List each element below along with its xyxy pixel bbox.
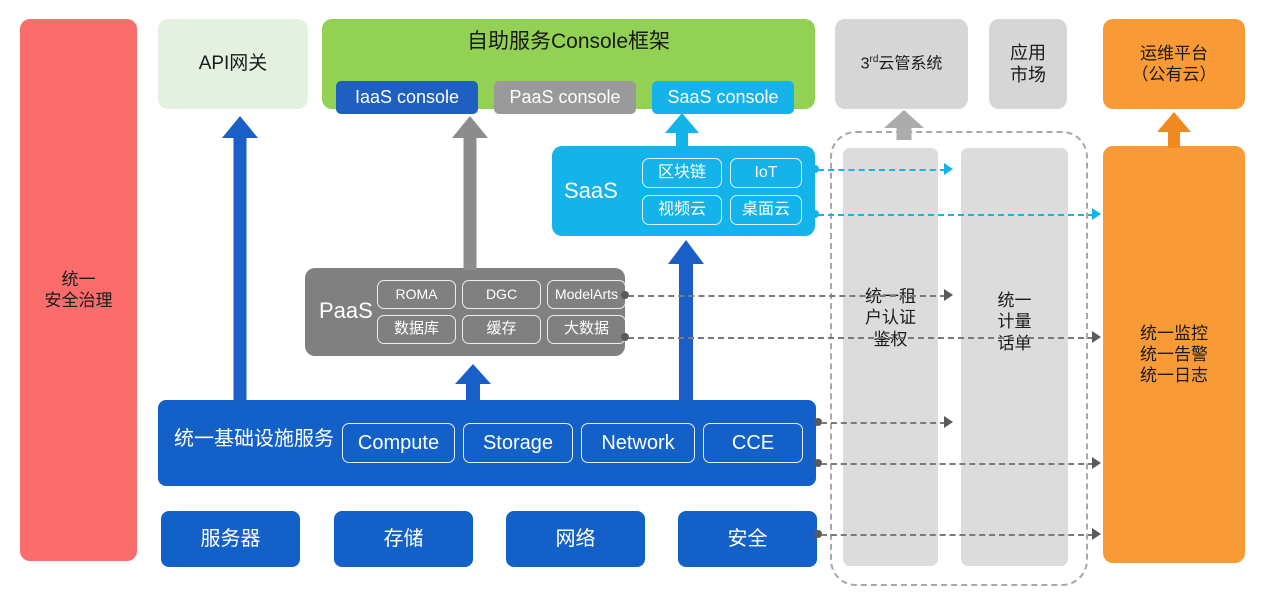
paas-item-roma[interactable]: ROMA [377,280,456,309]
hardware-item-security[interactable]: 安全 [678,511,817,567]
chip-iaas-console-label: IaaS console [355,86,459,109]
console-frame-box: 自助服务Console框架 IaaS console PaaS console … [322,19,815,109]
connector-arrowhead-hardware-ops [1092,528,1101,540]
connector-saas-to-auth [818,169,946,171]
arrow-infra-to-paas [455,364,491,402]
architecture-diagram: 统一 安全治理 API网关 自助服务Console框架 IaaS console… [0,0,1265,605]
saas-item-iot[interactable]: IoT [730,158,802,188]
infrastructure-box: 统一基础设施服务 Compute Storage Network CCE [158,400,816,486]
connector-arrowhead-saas-ops [1092,208,1101,220]
chip-saas-console-label: SaaS console [667,86,778,109]
infra-item-storage[interactable]: Storage [463,423,573,463]
paas-item-cache[interactable]: 缓存 [462,315,541,344]
app-market-label: 应用 市场 [1010,42,1046,87]
arrow-ops-column-to-platform [1157,112,1191,148]
ops-monitoring-column: 统一监控 统一告警 统一日志 [1103,146,1245,563]
connector-arrowhead-paas-auth [944,289,953,301]
saas-item-video-cloud[interactable]: 视频云 [642,195,722,225]
infra-item-cce[interactable]: CCE [703,423,803,463]
paas-box: PaaS ROMA DGC ModelArts 数据库 缓存 大数据 [305,268,625,356]
paas-item-database[interactable]: 数据库 [377,315,456,344]
connector-paas-to-auth [628,295,946,297]
app-market-box: 应用 市场 [989,19,1067,109]
connector-arrowhead-paas-ops [1092,331,1101,343]
ops-platform-box: 运维平台 （公有云） [1103,19,1245,109]
console-frame-title: 自助服务Console框架 [322,29,815,55]
paas-item-dgc[interactable]: DGC [462,280,541,309]
arrow-infra-to-saas [668,240,704,402]
api-gateway-box: API网关 [158,19,308,109]
chip-saas-console[interactable]: SaaS console [652,81,794,114]
saas-item-blockchain[interactable]: 区块链 [642,158,722,188]
saas-label: SaaS [564,177,618,205]
security-governance-label: 统一 安全治理 [45,269,113,312]
connector-hardware-to-ops [821,534,1094,536]
arrow-paas-to-console [452,116,488,270]
chip-paas-console[interactable]: PaaS console [494,81,636,114]
ops-platform-label: 运维平台 （公有云） [1132,43,1217,86]
connector-arrowhead-infra-ops [1092,457,1101,469]
paas-item-bigdata[interactable]: 大数据 [547,315,626,344]
paas-item-modelarts[interactable]: ModelArts [547,280,626,309]
hardware-item-network[interactable]: 网络 [506,511,645,567]
chip-iaas-console[interactable]: IaaS console [336,81,478,114]
arrow-shared-to-third-party [884,110,924,140]
arrow-saas-to-console [665,113,699,148]
ops-monitoring-label: 统一监控 统一告警 统一日志 [1140,323,1208,387]
api-gateway-label: API网关 [199,52,268,76]
connector-arrowhead-saas-auth [944,163,953,175]
auth-service-label: 统一租 户认证 鉴权 [843,278,938,358]
connector-arrowhead-infra-auth [944,416,953,428]
infrastructure-label: 统一基础设施服务 [174,427,334,452]
metering-service-label: 统一 计量 话单 [961,282,1068,362]
connector-infra-to-auth [821,422,946,424]
arrow-infra-to-api-gateway [222,116,258,401]
saas-item-desktop-cloud[interactable]: 桌面云 [730,195,802,225]
hardware-item-server[interactable]: 服务器 [161,511,300,567]
chip-paas-console-label: PaaS console [509,86,620,109]
third-party-cloud-mgmt-label: 3rd云管系统 [861,54,943,74]
connector-infra-to-ops [821,463,1094,465]
hardware-item-storage[interactable]: 存储 [334,511,473,567]
connector-paas-to-ops [628,337,1094,339]
paas-label: PaaS [319,297,373,325]
third-party-cloud-mgmt-box: 3rd云管系统 [835,19,968,109]
security-governance-column: 统一 安全治理 [20,19,137,561]
infra-item-network[interactable]: Network [581,423,695,463]
connector-saas-to-ops [818,214,1094,216]
infra-item-compute[interactable]: Compute [342,423,455,463]
saas-box: SaaS 区块链 IoT 视频云 桌面云 [552,146,815,236]
